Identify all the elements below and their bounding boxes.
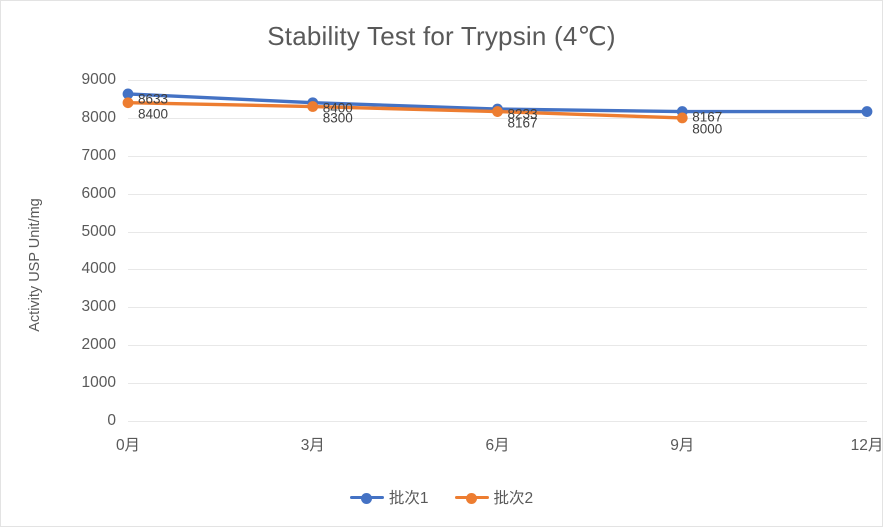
- y-axis-tick-labels: 9000800070006000500040003000200010000: [48, 80, 116, 421]
- x-axis-tick-label: 9月: [670, 433, 694, 455]
- y-axis-tick-label: 0: [48, 412, 116, 430]
- series-lines: [128, 80, 867, 421]
- y-axis-tick-label: 2000: [48, 336, 116, 354]
- legend-item-2[interactable]: 批次2: [455, 486, 534, 508]
- y-axis-title-text: Activity USP Unit/mg: [27, 198, 43, 332]
- data-point-marker: [862, 106, 873, 117]
- chart-title: Stability Test for Trypsin (4℃): [1, 21, 882, 52]
- data-label: 8633: [138, 91, 168, 106]
- x-axis-tick-label: 0月: [116, 433, 140, 455]
- data-label: 8000: [692, 121, 722, 136]
- plot-area: 863384008233816781678400830081678000: [128, 80, 867, 421]
- chart-container: Stability Test for Trypsin (4℃) Activity…: [0, 0, 883, 527]
- data-label: 8167: [508, 115, 538, 130]
- y-axis-tick-label: 3000: [48, 298, 116, 316]
- x-axis-tick-label: 6月: [485, 433, 509, 455]
- data-label: 8400: [138, 106, 168, 121]
- y-axis-tick-label: 1000: [48, 374, 116, 392]
- legend-swatch-icon: [455, 491, 489, 503]
- legend-label: 批次1: [389, 486, 429, 508]
- x-axis-tick-label: 3月: [301, 433, 325, 455]
- data-point-marker: [677, 112, 688, 123]
- gridline: [128, 421, 867, 422]
- chart-legend: 批次1批次2: [1, 486, 882, 508]
- y-axis-tick-label: 5000: [48, 223, 116, 241]
- legend-swatch-icon: [350, 491, 384, 503]
- data-point-marker: [492, 106, 503, 117]
- x-axis-tick-labels: 0月3月6月9月12月: [128, 433, 867, 459]
- legend-label: 批次2: [494, 486, 534, 508]
- y-axis-tick-label: 4000: [48, 260, 116, 278]
- y-axis-title: Activity USP Unit/mg: [23, 1, 47, 527]
- x-axis-tick-label: 12月: [851, 433, 883, 455]
- data-point-marker: [123, 97, 134, 108]
- y-axis-tick-label: 8000: [48, 109, 116, 127]
- y-axis-tick-label: 9000: [48, 71, 116, 89]
- y-axis-tick-label: 6000: [48, 185, 116, 203]
- legend-item-1[interactable]: 批次1: [350, 486, 429, 508]
- data-point-marker: [307, 101, 318, 112]
- data-label: 8300: [323, 110, 353, 125]
- y-axis-tick-label: 7000: [48, 147, 116, 165]
